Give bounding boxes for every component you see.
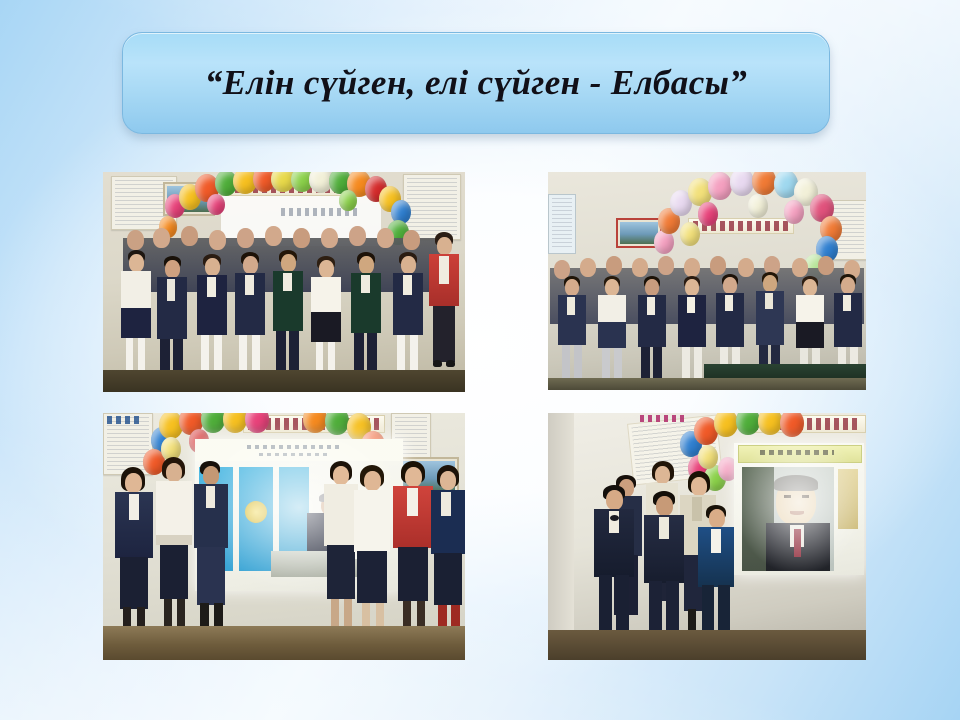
page-title: “Елін сүйген, елі сүйген - Елбасы” [205, 63, 747, 103]
photo-top-right[interactable] [548, 172, 866, 390]
photo-bottom-right[interactable] [548, 413, 866, 660]
title-banner: “Елін сүйген, елі сүйген - Елбасы” [122, 32, 830, 134]
photo-top-left[interactable] [103, 172, 465, 392]
photo-bottom-left[interactable] [103, 413, 465, 660]
slide-canvas: “Елін сүйген, елі сүйген - Елбасы” [0, 0, 960, 720]
